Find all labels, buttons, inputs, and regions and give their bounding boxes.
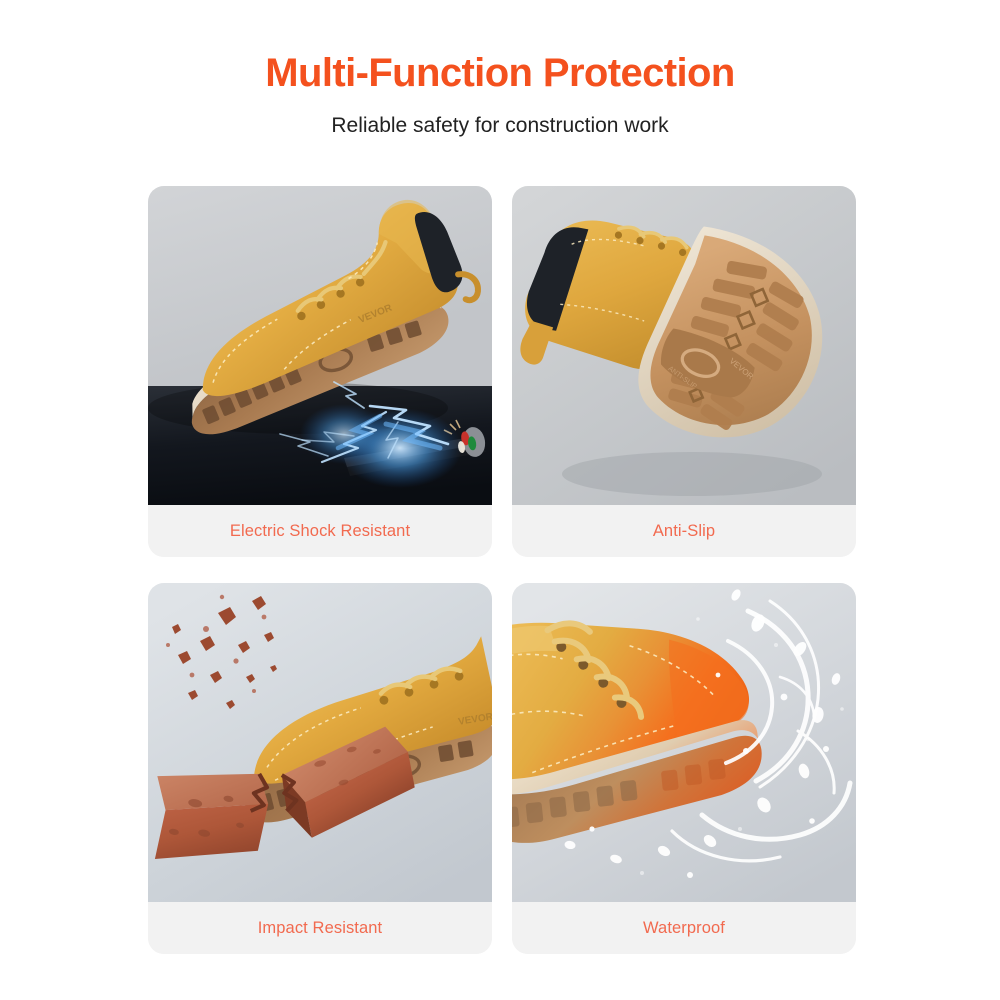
card-label-waterproof: Waterproof — [512, 902, 856, 954]
waterproof-illustration — [512, 583, 856, 902]
card-label-impact-resistant: Impact Resistant — [148, 902, 492, 954]
feature-card-anti-slip[interactable]: VEVOR ANTI-SLIP Anti-Slip — [512, 186, 856, 557]
feature-card-grid: VEVOR — [148, 186, 856, 954]
card-label-anti-slip: Anti-Slip — [512, 505, 856, 557]
product-feature-infographic: Multi-Function Protection Reliable safet… — [0, 0, 1000, 1000]
electric-shock-illustration: VEVOR — [148, 186, 492, 505]
header: Multi-Function Protection Reliable safet… — [0, 0, 1000, 138]
anti-slip-illustration: VEVOR ANTI-SLIP — [512, 186, 856, 505]
feature-card-impact-resistant[interactable]: VEVOR — [148, 583, 492, 954]
card-image-waterproof — [512, 583, 856, 902]
impact-resistant-illustration: VEVOR — [148, 583, 492, 902]
feature-card-waterproof[interactable]: Waterproof — [512, 583, 856, 954]
page-subtitle: Reliable safety for construction work — [0, 113, 1000, 138]
card-image-electric-shock-resistant: VEVOR — [148, 186, 492, 505]
page-title: Multi-Function Protection — [0, 52, 1000, 95]
card-image-impact-resistant: VEVOR — [148, 583, 492, 902]
card-label-electric-shock-resistant: Electric Shock Resistant — [148, 505, 492, 557]
feature-card-electric-shock-resistant[interactable]: VEVOR — [148, 186, 492, 557]
card-image-anti-slip: VEVOR ANTI-SLIP — [512, 186, 856, 505]
